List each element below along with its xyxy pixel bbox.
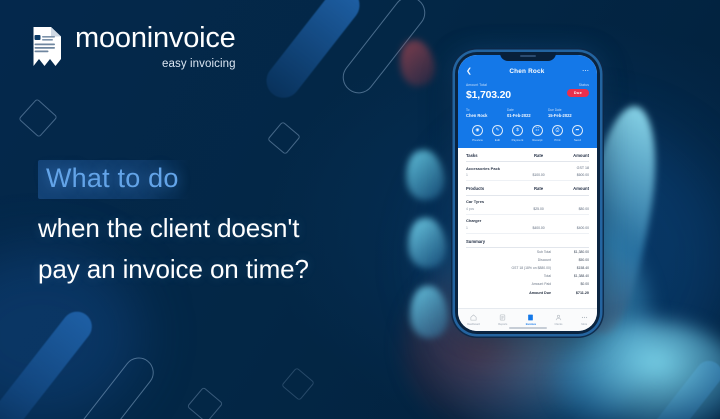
products-table-header: Products Rate Amount bbox=[466, 181, 589, 196]
meta-value: 01-Feb-2022 bbox=[507, 113, 531, 118]
invoice-amount-row: Amount Total $1,703.20 Status Due bbox=[466, 83, 589, 101]
headline-block: What to do when the client doesn't pay a… bbox=[38, 160, 438, 285]
invoice-icon bbox=[527, 314, 534, 321]
capsule-shape-bottom bbox=[0, 306, 98, 419]
phone-screen: ❮ Chen Rock ⋯ Amount Total $1,703.20 Sta… bbox=[458, 55, 597, 331]
summary-row: Sub Total $1,380.00 bbox=[466, 248, 589, 256]
invoice-action-toolbar: ◉ Preview ✎ Edit $ Payment ☷ Receipt bbox=[466, 118, 589, 148]
nav-label: Clients bbox=[555, 323, 563, 326]
pencil-icon: ✎ bbox=[492, 125, 503, 136]
item-rate: $25.00 bbox=[520, 207, 557, 211]
status-label: Status bbox=[579, 83, 589, 87]
invoice-document-icon bbox=[26, 25, 64, 69]
item-qty: 1 bbox=[466, 173, 520, 177]
meta-key: To bbox=[466, 108, 507, 112]
col-rate: Rate bbox=[520, 186, 557, 191]
nav-more[interactable]: More bbox=[581, 314, 588, 325]
action-label: Receipt bbox=[532, 138, 542, 142]
item-subtotal: $400.00 bbox=[557, 226, 589, 230]
summary-row: Discount $50.00 bbox=[466, 256, 589, 264]
brand-tagline: easy invoicing bbox=[75, 59, 236, 71]
nav-clients[interactable]: Clients bbox=[555, 314, 563, 325]
item-tax: GST 18 bbox=[557, 166, 589, 171]
summary-key: Amount Paid bbox=[532, 282, 551, 286]
col-amount: Amount bbox=[557, 186, 589, 191]
capsule-shape-top bbox=[260, 0, 367, 105]
eye-icon: ◉ bbox=[472, 125, 483, 136]
item-tax bbox=[557, 199, 589, 204]
headline-line-1: when the client doesn't bbox=[38, 213, 438, 244]
nav-label: Reports bbox=[498, 323, 507, 326]
item-name: Accessories Pack bbox=[466, 166, 537, 171]
invoice-amount-block: Amount Total $1,703.20 bbox=[466, 83, 511, 101]
chevron-left-icon[interactable]: ❮ bbox=[466, 68, 472, 75]
item-tax bbox=[557, 218, 589, 223]
summary-row: GST 18 (18% on $880.00) $158.40 bbox=[466, 264, 589, 272]
summary-total-row: Amount Due $711.20 bbox=[466, 289, 589, 297]
nav-label: Dashboard bbox=[467, 323, 480, 326]
invoice-detail-header: ❮ Chen Rock ⋯ Amount Total $1,703.20 Sta… bbox=[458, 55, 597, 148]
summary-value: $1,380.00 bbox=[559, 250, 589, 254]
summary-title: Summary bbox=[466, 234, 589, 248]
status-badge: Due bbox=[567, 89, 589, 97]
brand-name: mooninvoice bbox=[75, 24, 236, 53]
item-rate: $100.00 bbox=[520, 173, 557, 177]
meta-value: 15-Feb-2022 bbox=[548, 113, 572, 118]
table-row[interactable]: Accessories Pack GST 18 1 $100.00 $600.0… bbox=[466, 162, 589, 181]
phone-top-bar: ❮ Chen Rock ⋯ bbox=[466, 66, 589, 77]
invoice-meta-row: To Chen Rock Date 01-Feb-2022 Due Date 1… bbox=[466, 108, 589, 119]
nav-dashboard[interactable]: Dashboard bbox=[467, 314, 480, 325]
table-row[interactable]: Car Tyres 4 pcs $25.00 $80.00 bbox=[466, 196, 589, 215]
capsule-outline-bottom bbox=[62, 351, 160, 419]
meta-date: Date 01-Feb-2022 bbox=[507, 108, 548, 119]
payment-icon: $ bbox=[512, 125, 523, 136]
receipt-icon: ☷ bbox=[532, 125, 543, 136]
invoice-client-title: Chen Rock bbox=[509, 68, 544, 75]
action-payment[interactable]: $ Payment bbox=[508, 125, 527, 142]
item-name: Car Tyres bbox=[466, 199, 537, 204]
square-outline-left bbox=[18, 98, 58, 138]
summary-key: Discount bbox=[538, 258, 551, 262]
tasks-table-header: Tasks Rate Amount bbox=[466, 148, 589, 163]
brand-wordmark: mooninvoice easy invoicing bbox=[75, 24, 236, 71]
action-preview[interactable]: ◉ Preview bbox=[468, 125, 487, 142]
summary-key: Total bbox=[544, 274, 551, 278]
headline-eyebrow: What to do bbox=[46, 163, 179, 193]
meta-key: Date bbox=[507, 108, 514, 112]
home-indicator bbox=[509, 327, 547, 329]
finger-3 bbox=[405, 216, 448, 270]
more-icon bbox=[581, 314, 588, 321]
summary-value: $50.00 bbox=[559, 258, 589, 262]
brand-logo[interactable]: mooninvoice easy invoicing bbox=[26, 24, 236, 71]
invoice-amount-value: $1,703.20 bbox=[466, 89, 511, 101]
item-subtotal: $600.00 bbox=[557, 173, 589, 177]
meta-due-date: Due Date 15-Feb-2022 bbox=[548, 108, 589, 119]
col-rate: Rate bbox=[520, 153, 557, 158]
more-horizontal-icon[interactable]: ⋯ bbox=[582, 68, 589, 75]
promo-banner: mooninvoice easy invoicing What to do wh… bbox=[0, 0, 720, 419]
nav-label: More bbox=[581, 323, 587, 326]
summary-row: Amount Paid $0.00 bbox=[466, 280, 589, 288]
summary-key: Sub Total bbox=[537, 250, 551, 254]
print-icon: ⎙ bbox=[552, 125, 563, 136]
summary-value: $0.00 bbox=[559, 282, 589, 286]
meta-to: To Chen Rock bbox=[466, 108, 507, 119]
action-label: Payment bbox=[512, 138, 524, 142]
meta-value: Chen Rock bbox=[466, 113, 507, 118]
summary-key: GST 18 (18% on $880.00) bbox=[511, 266, 551, 270]
smartphone-device: ❮ Chen Rock ⋯ Amount Total $1,703.20 Sta… bbox=[455, 52, 600, 334]
action-label: Edit bbox=[495, 138, 500, 142]
table-row[interactable]: Charger 1 $400.00 $400.00 bbox=[466, 215, 589, 234]
nav-invoices[interactable]: Invoices bbox=[526, 314, 536, 325]
finger-2 bbox=[403, 148, 448, 203]
finger-1 bbox=[396, 37, 439, 89]
summary-value: $1,388.40 bbox=[559, 274, 589, 278]
share-icon: ➦ bbox=[572, 125, 583, 136]
action-send[interactable]: ➦ Send bbox=[568, 125, 587, 142]
meta-key: Due Date bbox=[548, 108, 561, 112]
square-outline-topleft bbox=[281, 367, 315, 401]
col-products: Products bbox=[466, 186, 520, 191]
headline-line-2: pay an invoice on time? bbox=[38, 254, 438, 285]
item-subtotal: $80.00 bbox=[557, 207, 589, 211]
square-outline-mid bbox=[267, 121, 301, 155]
col-amount: Amount bbox=[557, 153, 589, 158]
item-qty: 4 pcs bbox=[466, 207, 520, 211]
home-icon bbox=[470, 314, 477, 321]
item-rate: $400.00 bbox=[520, 226, 557, 230]
invoice-status-block: Status Due bbox=[567, 83, 589, 97]
item-qty: 1 bbox=[466, 226, 520, 230]
action-receipt[interactable]: ☷ Receipt bbox=[528, 125, 547, 142]
summary-total-value: $711.20 bbox=[559, 291, 589, 295]
action-label: Preview bbox=[472, 138, 483, 142]
invoice-line-items[interactable]: Tasks Rate Amount Accessories Pack GST 1… bbox=[458, 148, 597, 308]
col-tasks: Tasks bbox=[466, 153, 520, 158]
summary-total-key: Amount Due bbox=[529, 291, 551, 295]
report-icon bbox=[499, 314, 506, 321]
summary-value: $158.40 bbox=[559, 266, 589, 270]
amount-label: Amount Total bbox=[466, 83, 511, 87]
action-label: Send bbox=[574, 138, 581, 142]
action-label: Print bbox=[554, 138, 560, 142]
nav-reports[interactable]: Reports bbox=[498, 314, 507, 325]
phone-notch bbox=[500, 52, 556, 61]
action-print[interactable]: ⎙ Print bbox=[548, 125, 567, 142]
nav-label: Invoices bbox=[526, 323, 536, 326]
action-edit[interactable]: ✎ Edit bbox=[488, 125, 507, 142]
headline-eyebrow-highlight: What to do bbox=[38, 160, 189, 199]
clients-icon bbox=[555, 314, 562, 321]
square-outline-bottom bbox=[187, 387, 224, 419]
item-name: Charger bbox=[466, 218, 537, 223]
summary-row: Total $1,388.40 bbox=[466, 272, 589, 280]
